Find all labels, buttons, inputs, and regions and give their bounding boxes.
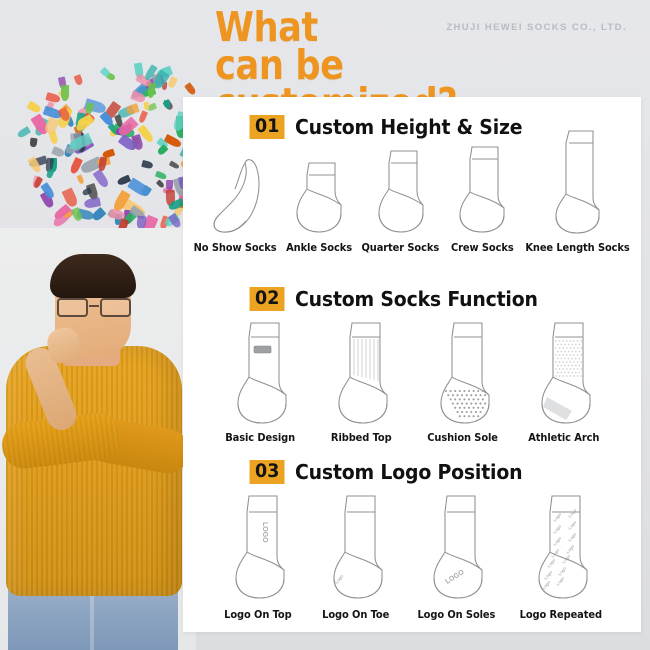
item-cushion-sole[interactable]: Cushion Sole	[424, 319, 502, 444]
company-name: ZHUJI HEWEI SOCKS CO., LTD.	[446, 22, 627, 33]
section-custom-logo-position: 03 Custom Logo Position LOGO Logo On Top	[183, 460, 641, 621]
section-02-header: 02 Custom Socks Function	[183, 287, 641, 311]
item-quarter-socks[interactable]: Quarter Socks	[359, 145, 442, 254]
sock-logo-on-top-icon: LOGO	[219, 492, 297, 604]
item-label: Ankle Socks	[286, 242, 352, 254]
item-label: Logo On Toe	[322, 609, 389, 621]
item-knee-length-socks[interactable]: Knee Length Socks	[522, 145, 633, 254]
section-03-badge: 03	[250, 460, 285, 484]
item-label: Logo Repeated	[520, 609, 602, 621]
section-01-title: Custom Height & Size	[295, 115, 522, 139]
sock-athletic-arch-icon	[525, 319, 603, 427]
section-02-badge: 02	[250, 287, 285, 311]
item-label: Ribbed Top	[331, 432, 392, 444]
item-label: Crew Socks	[451, 242, 514, 254]
item-label: Quarter Socks	[362, 242, 440, 254]
item-label: Basic Design	[225, 432, 295, 444]
sock-basic-design-icon	[221, 319, 299, 427]
item-logo-repeated[interactable]: LogoLogoLogoLogoLogoLogoLogoLogoLogoLogo…	[517, 492, 605, 621]
thinking-man-photo	[0, 228, 196, 650]
item-label: Logo On Top	[224, 609, 291, 621]
item-logo-on-soles[interactable]: LOGO Logo On Soles	[415, 492, 498, 621]
item-no-show-socks[interactable]: No Show Socks	[191, 145, 279, 254]
sock-ankle-icon	[283, 145, 355, 237]
sock-quarter-icon	[365, 145, 437, 237]
sock-ribbed-top-icon	[322, 319, 400, 427]
hair	[50, 254, 136, 298]
logo-text: LOGO	[261, 522, 268, 543]
item-ribbed-top[interactable]: Ribbed Top	[322, 319, 400, 444]
sock-crew-icon	[446, 145, 518, 237]
sock-cushion-sole-icon	[424, 319, 502, 427]
item-logo-on-top[interactable]: LOGO Logo On Top	[219, 492, 297, 621]
item-label: Knee Length Socks	[525, 242, 629, 254]
sock-logo-on-toe-icon: Logo	[317, 492, 395, 604]
section-custom-socks-function: 02 Custom Socks Function Basic Design	[183, 287, 641, 444]
section-03-title: Custom Logo Position	[295, 460, 522, 484]
section-01-badge: 01	[250, 115, 285, 139]
sock-knee-length-icon	[541, 145, 613, 237]
item-logo-on-toe[interactable]: Logo Logo On Toe	[317, 492, 395, 621]
item-basic-design[interactable]: Basic Design	[221, 319, 299, 444]
sock-logo-on-soles-icon: LOGO	[417, 492, 495, 604]
item-label: Logo On Soles	[417, 609, 495, 621]
item-ankle-socks[interactable]: Ankle Socks	[283, 145, 355, 254]
sock-logo-repeated-icon: LogoLogoLogoLogoLogoLogoLogoLogoLogoLogo…	[522, 492, 600, 604]
sock-no-show-icon	[199, 145, 271, 237]
section-custom-height-size: 01 Custom Height & Size No Show Socks	[183, 115, 641, 254]
item-label: Athletic Arch	[529, 432, 600, 444]
item-label: Cushion Sole	[427, 432, 498, 444]
item-athletic-arch[interactable]: Athletic Arch	[525, 319, 603, 444]
item-label: No Show Socks	[194, 242, 277, 254]
item-crew-socks[interactable]: Crew Socks	[446, 145, 518, 254]
content-panel: 01 Custom Height & Size No Show Socks	[183, 97, 641, 632]
glasses-icon	[56, 298, 132, 317]
section-02-title: Custom Socks Function	[295, 287, 538, 311]
section-03-header: 03 Custom Logo Position	[183, 460, 641, 484]
